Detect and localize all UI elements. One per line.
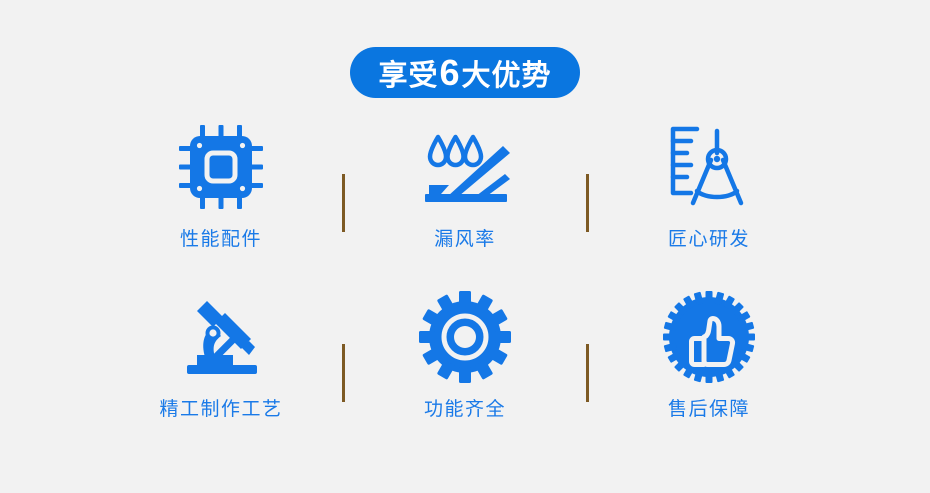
gear-icon — [417, 282, 513, 392]
feature-cell-rnd[interactable]: 匠心研发 — [603, 112, 815, 249]
feature-label: 漏风率 — [434, 230, 496, 249]
column-divider — [327, 112, 359, 232]
feature-label: 功能齐全 — [424, 400, 506, 419]
water-droplets-repellent-icon — [415, 112, 515, 222]
thumbs-up-badge-icon — [661, 282, 757, 392]
feature-grid: 性能配件 — [0, 112, 930, 452]
banner-title: 享受6大优势 — [378, 55, 551, 91]
feature-label: 匠心研发 — [668, 230, 750, 249]
feature-cell-air-leakage[interactable]: 漏风率 — [359, 112, 571, 249]
feature-cell-after-sales[interactable]: 售后保障 — [603, 282, 815, 419]
feature-cell-performance-parts[interactable]: 性能配件 — [115, 112, 327, 249]
column-divider — [571, 112, 603, 232]
column-divider — [327, 282, 359, 402]
banner-container: 享受6大优势 — [0, 47, 930, 98]
column-divider — [571, 282, 603, 402]
feature-row: 性能配件 — [0, 112, 930, 282]
feature-label: 精工制作工艺 — [159, 400, 282, 419]
banner-suffix: 大优势 — [462, 62, 552, 91]
feature-label: 售后保障 — [668, 400, 750, 419]
feature-row: 精工制作工艺 — [0, 282, 930, 452]
microscope-icon — [171, 282, 271, 392]
cpu-chip-icon — [173, 112, 269, 222]
banner-number: 6 — [438, 55, 461, 91]
banner-pill: 享受6大优势 — [350, 47, 579, 98]
feature-cell-full-function[interactable]: 功能齐全 — [359, 282, 571, 419]
ruler-compass-icon — [661, 112, 757, 222]
feature-cell-craftsmanship[interactable]: 精工制作工艺 — [115, 282, 327, 419]
feature-label: 性能配件 — [180, 230, 262, 249]
banner-prefix: 享受 — [378, 62, 438, 91]
